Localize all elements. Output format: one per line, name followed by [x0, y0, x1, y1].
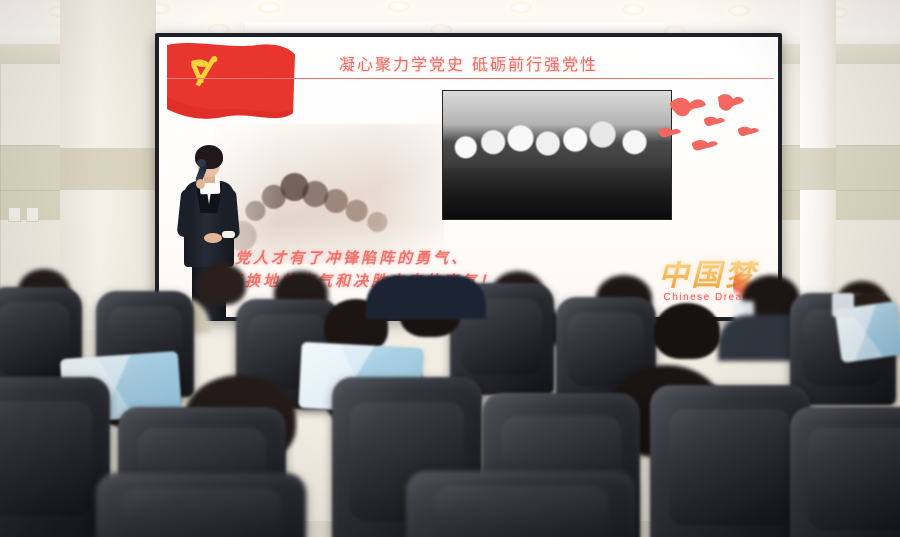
wall-outlet[interactable] — [26, 207, 39, 222]
auditorium-chair[interactable] — [406, 471, 636, 537]
audience-head — [196, 263, 246, 305]
audience-shoulders — [366, 275, 486, 319]
audience-seating — [0, 257, 900, 537]
auditorium-chair[interactable] — [650, 385, 810, 537]
red-flying-birds-icon — [656, 87, 764, 165]
face-mask-icon — [832, 293, 854, 317]
downlight — [622, 4, 644, 15]
downlight — [388, 1, 410, 12]
presenter-hand-left — [196, 179, 205, 189]
column-band — [800, 148, 836, 190]
downlight — [510, 2, 532, 13]
slide-title: 凝心聚力学党史 砥砺前行强党性 — [159, 51, 778, 75]
auditorium-chair[interactable] — [0, 377, 110, 537]
auditorium-chair[interactable] — [96, 473, 306, 537]
slide-title-rule — [167, 78, 774, 79]
column-band — [60, 148, 156, 190]
audience-head — [654, 303, 720, 359]
downlight — [258, 2, 280, 13]
lecture-hall-photo: 凝心聚力学党史 砥砺前行强党性 共产党人才有了冲锋陷阵的 — [0, 0, 900, 537]
microphone-head-icon — [197, 159, 206, 167]
historical-photo-image — [442, 90, 672, 220]
historical-painting-image — [214, 124, 444, 264]
presenter-cuff — [222, 231, 235, 238]
auditorium-chair[interactable] — [790, 407, 900, 537]
presenter-hand-right — [204, 233, 222, 243]
downlight — [728, 5, 750, 16]
wall-outlet[interactable] — [8, 207, 21, 222]
